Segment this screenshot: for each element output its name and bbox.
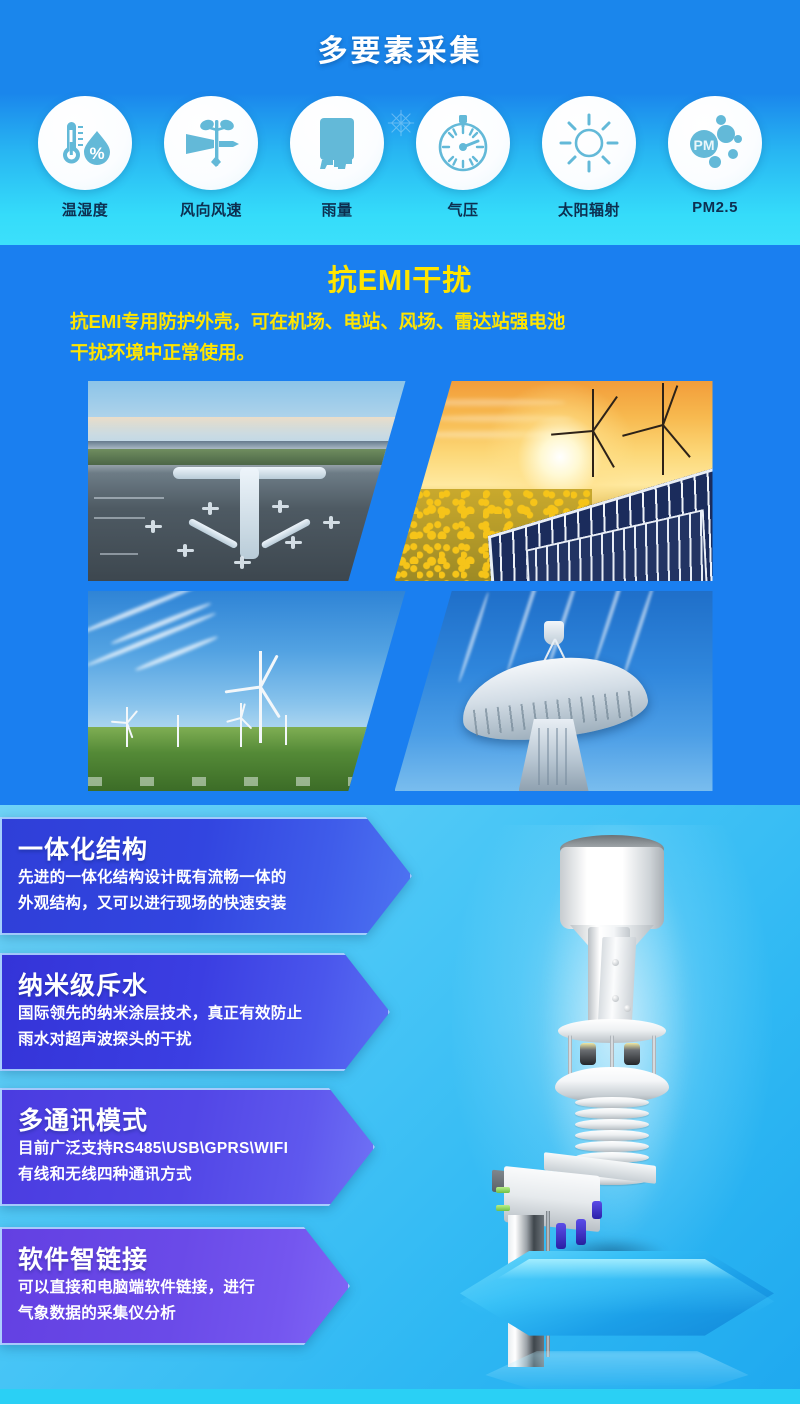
feature-line2: 外观结构，又可以进行现场的快速安装 — [18, 891, 412, 917]
sensor-label: 雨量 — [321, 199, 352, 220]
sensor-item-solar-radiation[interactable]: 太阳辐射 — [534, 96, 644, 220]
anemometer-wind-icon — [164, 96, 258, 190]
feature-title: 软件智链接 — [18, 1245, 350, 1275]
sensor-icon-row: % 温湿度 — [0, 96, 800, 220]
svg-text:PM: PM — [694, 137, 715, 153]
feature-callout-4[interactable]: 软件智链接 可以直接和电脑端软件链接，进行 气象数据的采集仪分析 — [0, 1227, 350, 1345]
sun-radiation-icon — [542, 96, 636, 190]
solar-farm-photo — [395, 381, 713, 581]
sensor-item-pressure[interactable]: 气压 — [408, 96, 518, 220]
wind-farm-photo — [88, 591, 406, 791]
sensor-item-temperature-humidity[interactable]: % 温湿度 — [30, 96, 140, 220]
sensor-label: 太阳辐射 — [558, 199, 620, 220]
feature-line1: 国际领先的纳米涂层技术，真正有效防止 — [18, 1001, 390, 1027]
feature-line2: 雨水对超声波探头的干扰 — [18, 1027, 390, 1053]
rain-gauge-icon — [290, 96, 384, 190]
photo-row-bottom — [88, 591, 713, 791]
feature-title: 多通讯模式 — [18, 1106, 375, 1136]
emi-desc-line1: 抗EMI专用防护外壳，可在机场、电站、风场、雷达站强电池 — [70, 311, 565, 332]
sensor-item-rainfall[interactable]: 雨量 — [282, 96, 392, 220]
barometer-gauge-icon — [416, 96, 510, 190]
emi-desc-line2: 干扰环境中正常使用。 — [70, 337, 730, 368]
rain-gauge-funnel-body — [560, 847, 664, 929]
weather-station-product-image — [452, 819, 782, 1379]
section-title-collect: 多要素采集 — [0, 26, 800, 70]
radar-station-photo — [395, 591, 713, 791]
thermometer-humidity-icon: % — [38, 96, 132, 190]
feature-callout-1[interactable]: 一体化结构 先进的一体化结构设计既有流畅一体的 外观结构，又可以进行现场的快速安… — [0, 817, 412, 935]
application-photo-collage — [88, 381, 713, 791]
emi-description: 抗EMI专用防护外壳，可在机场、电站、风场、雷达站强电池 干扰环境中正常使用。 — [70, 306, 730, 368]
feature-line2: 有线和无线四种通讯方式 — [18, 1162, 375, 1188]
svg-text:%: % — [89, 144, 104, 163]
feature-title: 纳米级斥水 — [18, 971, 390, 1001]
multi-element-collection-section: 多要素采集 — [0, 0, 800, 245]
sensor-label: 温湿度 — [62, 199, 109, 220]
sensor-label: 气压 — [447, 199, 478, 220]
sensor-item-pm25[interactable]: PM PM2.5 — [660, 96, 770, 216]
feature-line1: 目前广泛支持RS485\USB\GPRS\WIFI — [18, 1136, 375, 1162]
feature-title: 一体化结构 — [18, 835, 412, 865]
feature-line1: 先进的一体化结构设计既有流畅一体的 — [18, 865, 412, 891]
feature-line2: 气象数据的采集仪分析 — [18, 1301, 350, 1327]
airport-photo — [88, 381, 406, 581]
anti-emi-section: 抗EMI干扰 抗EMI专用防护外壳，可在机场、电站、风场、雷达站强电池 干扰环境… — [0, 245, 800, 805]
product-detail-page: 多要素采集 — [0, 0, 800, 1404]
emi-title: 抗EMI干扰 — [0, 245, 800, 299]
product-neck-plate — [598, 937, 637, 1029]
display-platform — [460, 1251, 774, 1379]
feature-callout-3[interactable]: 多通讯模式 目前广泛支持RS485\USB\GPRS\WIFI 有线和无线四种通… — [0, 1088, 375, 1206]
sensor-label: 风向风速 — [180, 199, 242, 220]
feature-line1: 可以直接和电脑端软件链接，进行 — [18, 1275, 350, 1301]
photo-row-top — [88, 381, 713, 581]
sensor-label: PM2.5 — [692, 199, 738, 216]
feature-callout-2[interactable]: 纳米级斥水 国际领先的纳米涂层技术，真正有效防止 雨水对超声波探头的干扰 — [0, 953, 390, 1071]
sensor-item-wind[interactable]: 风向风速 — [156, 96, 266, 220]
feature-highlights-section: 一体化结构 先进的一体化结构设计既有流畅一体的 外观结构，又可以进行现场的快速安… — [0, 805, 800, 1389]
pm25-particles-icon: PM — [668, 96, 762, 190]
